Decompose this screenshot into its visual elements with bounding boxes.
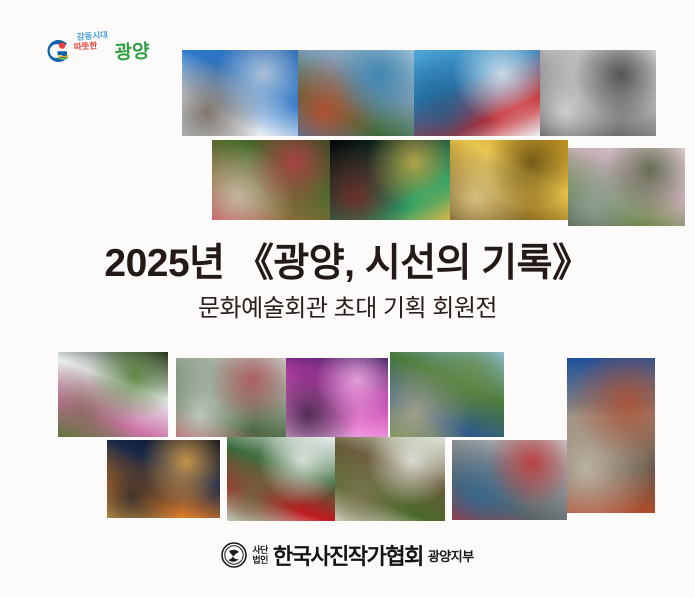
photo-night-industry <box>330 140 450 220</box>
photo-golden-wetland-image <box>450 140 568 220</box>
association-prefix: 사단 법인 <box>252 545 268 565</box>
photo-red-camellia-image <box>227 437 335 521</box>
association-name: 한국사진작가협회 <box>273 539 423 571</box>
photo-purple-fountain <box>286 358 388 437</box>
poster-root: 감동시대 따뜻한 광양 2025년 《광양, 시선의 기록》 문화예술회관 초대… <box>0 0 695 598</box>
svg-text:따뜻한: 따뜻한 <box>74 40 98 52</box>
photo-bw-tree-bridge-image <box>540 50 656 136</box>
page-subtitle: 문화예술회관 초대 기획 회원전 <box>0 293 695 325</box>
photo-cherry-road <box>568 148 685 226</box>
association-prefix-line2: 법인 <box>252 555 268 565</box>
photo-old-pine-tree-image <box>335 437 445 521</box>
photo-stone-house-tree <box>567 358 655 513</box>
photo-windsurfer-image <box>414 50 540 136</box>
photo-night-bridge <box>107 440 220 518</box>
city-logo-mark-icon <box>44 38 70 64</box>
photo-golden-wetland <box>450 140 568 220</box>
city-logo-name: 광양 <box>114 39 160 65</box>
photo-forest-path-image <box>212 140 330 220</box>
photo-coastal-mountains <box>298 50 414 136</box>
photo-stone-house-tree-image <box>567 358 655 513</box>
photo-waterfall-flowers <box>58 352 168 437</box>
association-logo: 사단 법인 한국사진작가협회 광양지부 <box>0 540 695 570</box>
photo-bw-tree-bridge <box>540 50 656 136</box>
svg-text:광양: 광양 <box>114 40 151 64</box>
photo-mascot-statue <box>452 440 567 520</box>
photo-waterfall-flowers-image <box>58 352 168 437</box>
photo-snow-blossoms <box>182 50 298 136</box>
association-prefix-line1: 사단 <box>252 545 268 555</box>
photo-purple-fountain-image <box>286 358 388 437</box>
photo-misty-hanok-image <box>176 358 286 437</box>
photo-night-industry-image <box>330 140 450 220</box>
photo-old-pine-tree <box>335 437 445 521</box>
photo-red-camellia <box>227 437 335 521</box>
association-emblem-icon <box>221 542 247 568</box>
photo-night-bridge-image <box>107 440 220 518</box>
photo-forest-path <box>212 140 330 220</box>
gwangyang-city-logo: 감동시대 따뜻한 광양 <box>44 29 156 73</box>
page-title: 2025년 《광양, 시선의 기록》 <box>0 240 695 288</box>
photo-windsurfer <box>414 50 540 136</box>
photo-mountain-lake-image <box>390 352 504 437</box>
photo-misty-hanok <box>176 358 286 437</box>
photo-coastal-mountains-image <box>298 50 414 136</box>
photo-snow-blossoms-image <box>182 50 298 136</box>
photo-mascot-statue-image <box>452 440 567 520</box>
photo-cherry-road-image <box>568 148 685 226</box>
association-branch: 광양지부 <box>428 546 474 565</box>
photo-mountain-lake <box>390 352 504 437</box>
